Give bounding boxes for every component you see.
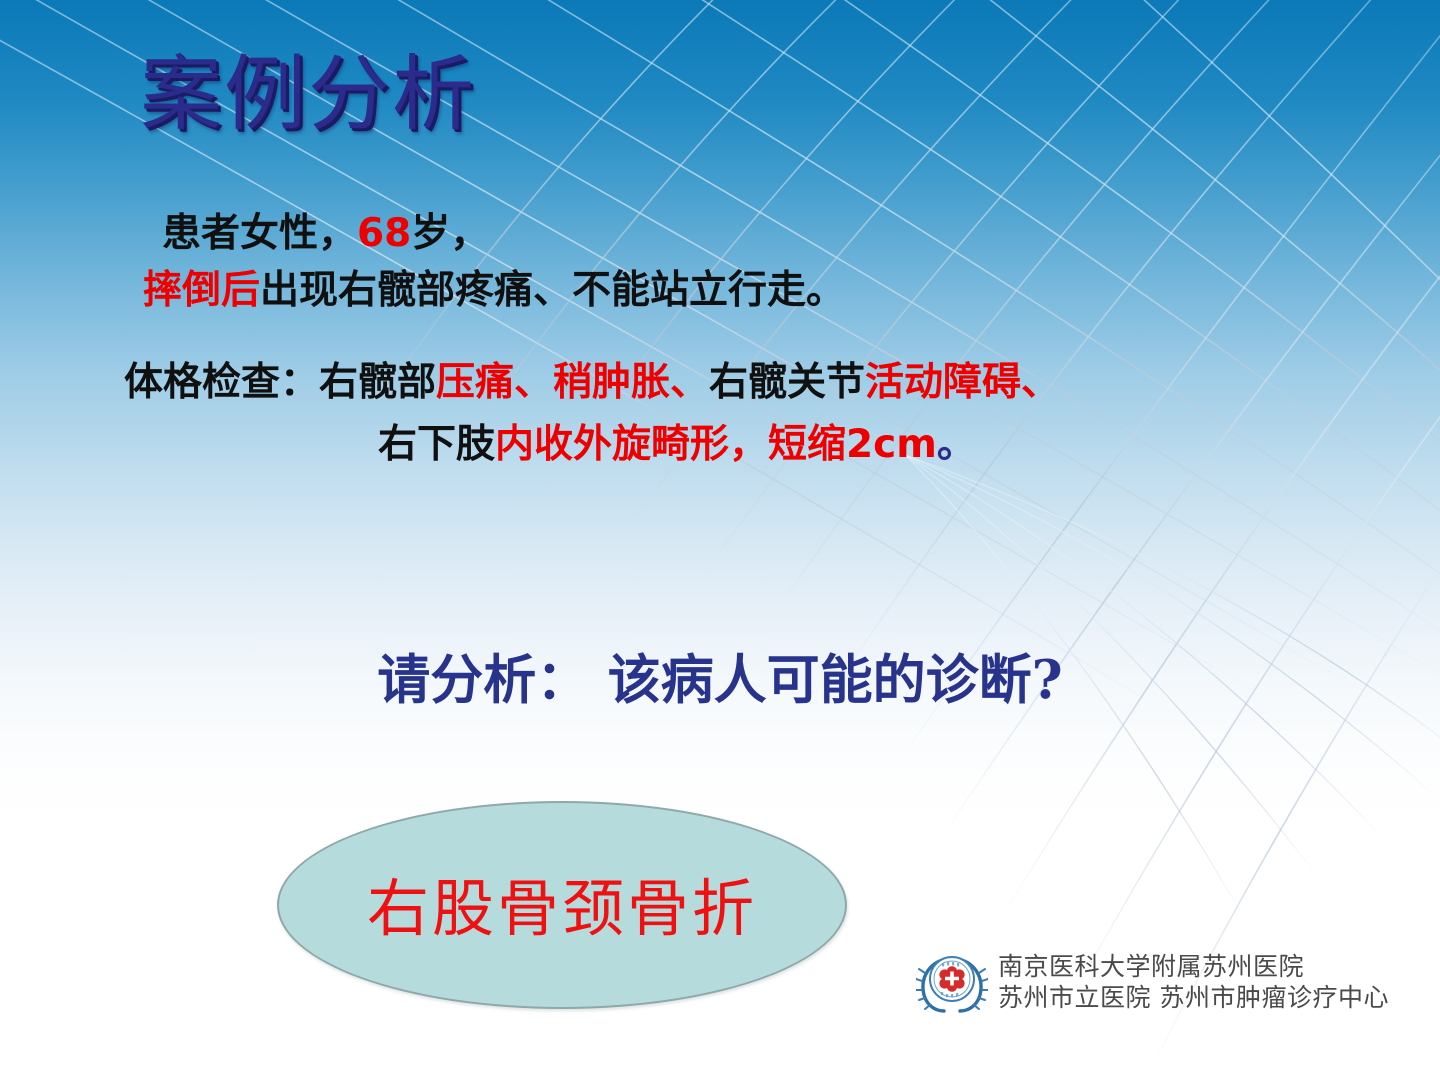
case-symptoms: 出现右髋部疼痛、不能站立行走。 bbox=[260, 268, 845, 313]
exam-limb-label: 右下肢 bbox=[378, 422, 495, 467]
case-history-block: 患者女性，68岁， 摔倒后出现右髋部疼痛、不能站立行走。 bbox=[0, 205, 1440, 319]
case-history-line-2: 摔倒后出现右髋部疼痛、不能站立行走。 bbox=[143, 262, 1440, 319]
page-title: 案例分析 bbox=[140, 52, 476, 138]
answer-diagnosis-label: 右股骨颈骨折 bbox=[367, 858, 757, 948]
analysis-question: 请分析： 该病人可能的诊断? bbox=[0, 645, 1440, 715]
physical-exam-block: 体格检查：右髋部压痛、稍肿胀、右髋关节活动障碍、 右下肢内收外旋畸形，短缩2cm… bbox=[0, 352, 1440, 476]
case-injury-cause: 摔倒后 bbox=[143, 268, 260, 313]
hospital-logo: 南京医科大学附属苏州医院 苏州市立医院 苏州市肿瘤诊疗中心 bbox=[916, 949, 1389, 1015]
exam-finding-tenderness: 压痛、稍肿胀、 bbox=[436, 360, 709, 405]
physical-exam-line-2: 右下肢内收外旋畸形，短缩2cm。 bbox=[378, 414, 1440, 476]
answer-ellipse: 右股骨颈骨折 bbox=[277, 801, 847, 1009]
exam-label: 体格检查：右髋部 bbox=[124, 360, 436, 405]
exam-finding-deformity: 内收外旋畸形，短缩2cm bbox=[495, 422, 937, 467]
case-patient-descriptor: 患者女性， bbox=[162, 211, 357, 256]
hospital-name-line-1: 南京医科大学附属苏州医院 bbox=[998, 951, 1389, 982]
case-history-line-1: 患者女性，68岁， bbox=[162, 205, 1440, 262]
slide-canvas: 案例分析 患者女性，68岁， 摔倒后出现右髋部疼痛、不能站立行走。 体格检查：右… bbox=[0, 0, 1440, 1080]
case-patient-age: 68 bbox=[357, 211, 411, 256]
physical-exam-line-1: 体格检查：右髋部压痛、稍肿胀、右髋关节活动障碍、 bbox=[124, 352, 1440, 414]
hospital-name-line-2: 苏州市立医院 苏州市肿瘤诊疗中心 bbox=[998, 982, 1389, 1013]
exam-joint-label: 右髋关节 bbox=[709, 360, 865, 405]
hospital-name-text: 南京医科大学附属苏州医院 苏州市立医院 苏州市肿瘤诊疗中心 bbox=[998, 951, 1389, 1013]
exam-finding-motion: 活动障碍、 bbox=[865, 360, 1060, 405]
exam-line-period: 。 bbox=[937, 422, 976, 467]
hospital-seal-icon bbox=[916, 949, 988, 1015]
case-age-unit: 岁， bbox=[411, 211, 489, 256]
